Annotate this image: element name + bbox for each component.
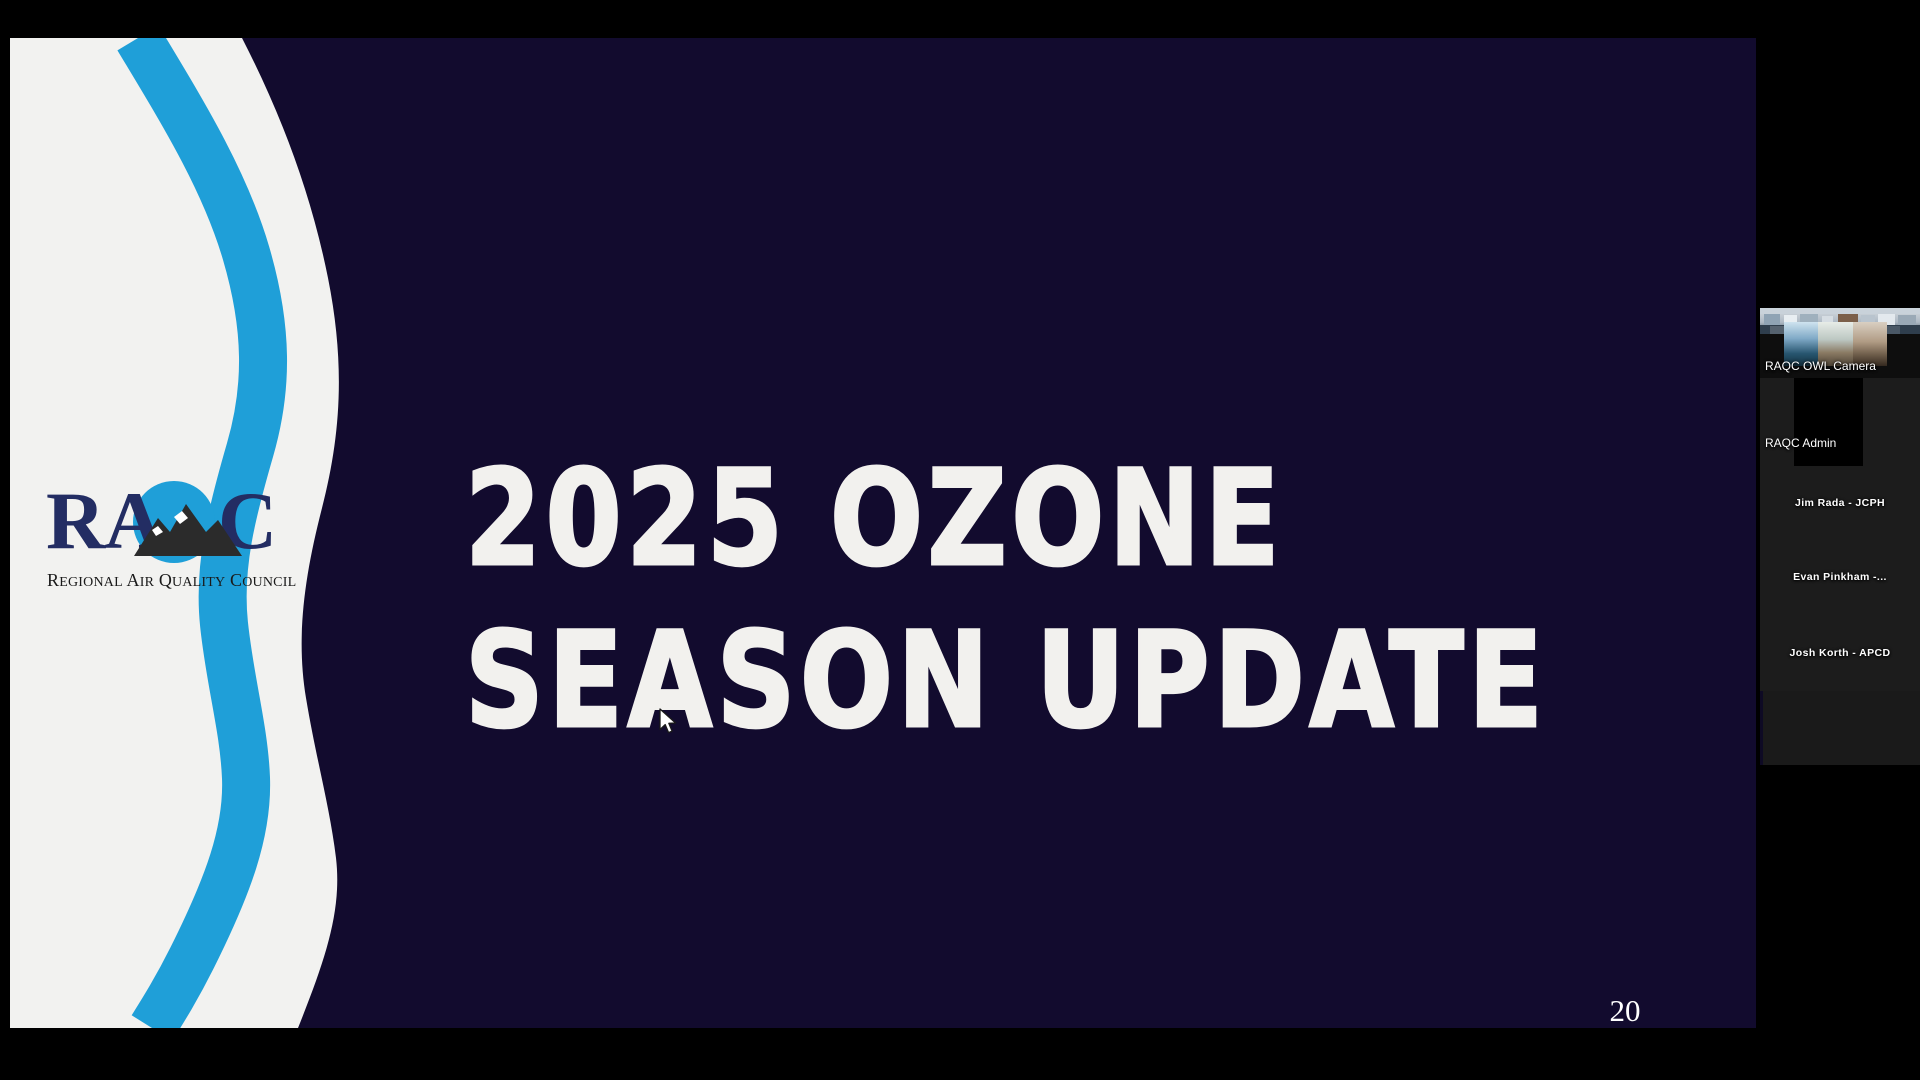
participant-name-owl-camera: RAQC OWL Camera [1765,359,1876,373]
participant-tile-josh-korth[interactable]: Josh Korth - APCD [1760,614,1920,691]
participant-name-jim-rada: Jim Rada - JCPH [1760,496,1920,510]
participant-name-evan-pinkham: Evan Pinkham -... [1760,570,1920,584]
slide-page-number: 20 [1590,993,1660,1028]
slide-title: 2025 OZONE SEASON UPDATE [465,438,1551,762]
participant-tile-owl-camera[interactable]: RAQC OWL Camera [1760,308,1920,378]
participant-tile-raqc-admin[interactable]: RAQC Admin [1760,378,1920,466]
logo-tagline: REGIONAL AIR QUALITY COUNCIL [47,570,296,590]
participant-name-josh-korth: Josh Korth - APCD [1760,646,1920,660]
slide-title-line-2: SEASON UPDATE [465,600,1551,762]
participant-tile-evan-pinkham[interactable]: Evan Pinkham -... [1760,540,1920,614]
raqc-logo: RA C REGIONAL AIR QUALITY COUNCIL [46,470,296,600]
participant-name-raqc-admin: RAQC Admin [1765,436,1836,450]
screen: RA C REGIONAL AIR QUALITY COUNCIL 2025 O… [0,0,1920,1080]
presentation-slide: RA C REGIONAL AIR QUALITY COUNCIL 2025 O… [10,38,1756,1028]
camera-off-placeholder [1794,378,1863,466]
participant-filmstrip[interactable]: RAQC OWL Camera RAQC Admin Jim Rada - JC… [1760,308,1920,765]
participant-tile-jim-rada[interactable]: Jim Rada - JCPH [1760,466,1920,540]
slide-title-line-1: 2025 OZONE [465,438,1551,600]
